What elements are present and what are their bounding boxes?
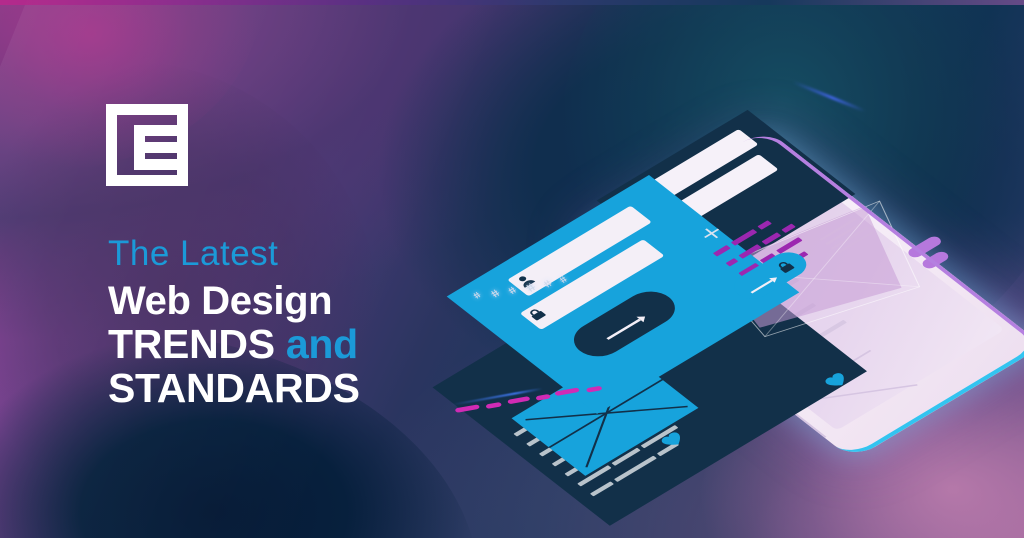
banner-canvas: The Latest Web Design TRENDS and STANDAR… [0,0,1024,538]
logo-e-bar-bottom [134,159,188,170]
logo-e-bar-top [134,125,188,136]
top-gradient-strip [0,0,1024,5]
E-square-logo [106,104,188,186]
headline-line-web-design: Web Design [108,280,360,322]
logo-e-bar-middle [134,142,178,153]
headline-line-trends-and: TRENDS and [108,323,360,366]
iso-plane: # # # # # # [345,38,1024,538]
isometric-web-design-mockup: # # # # # # [430,110,1020,470]
headline-block: The Latest Web Design TRENDS and STANDAR… [108,236,360,411]
headline-trends-text: TRENDS [108,321,275,367]
headline-line-standards: STANDARDS [108,367,360,410]
headline-kicker: The Latest [108,236,360,273]
